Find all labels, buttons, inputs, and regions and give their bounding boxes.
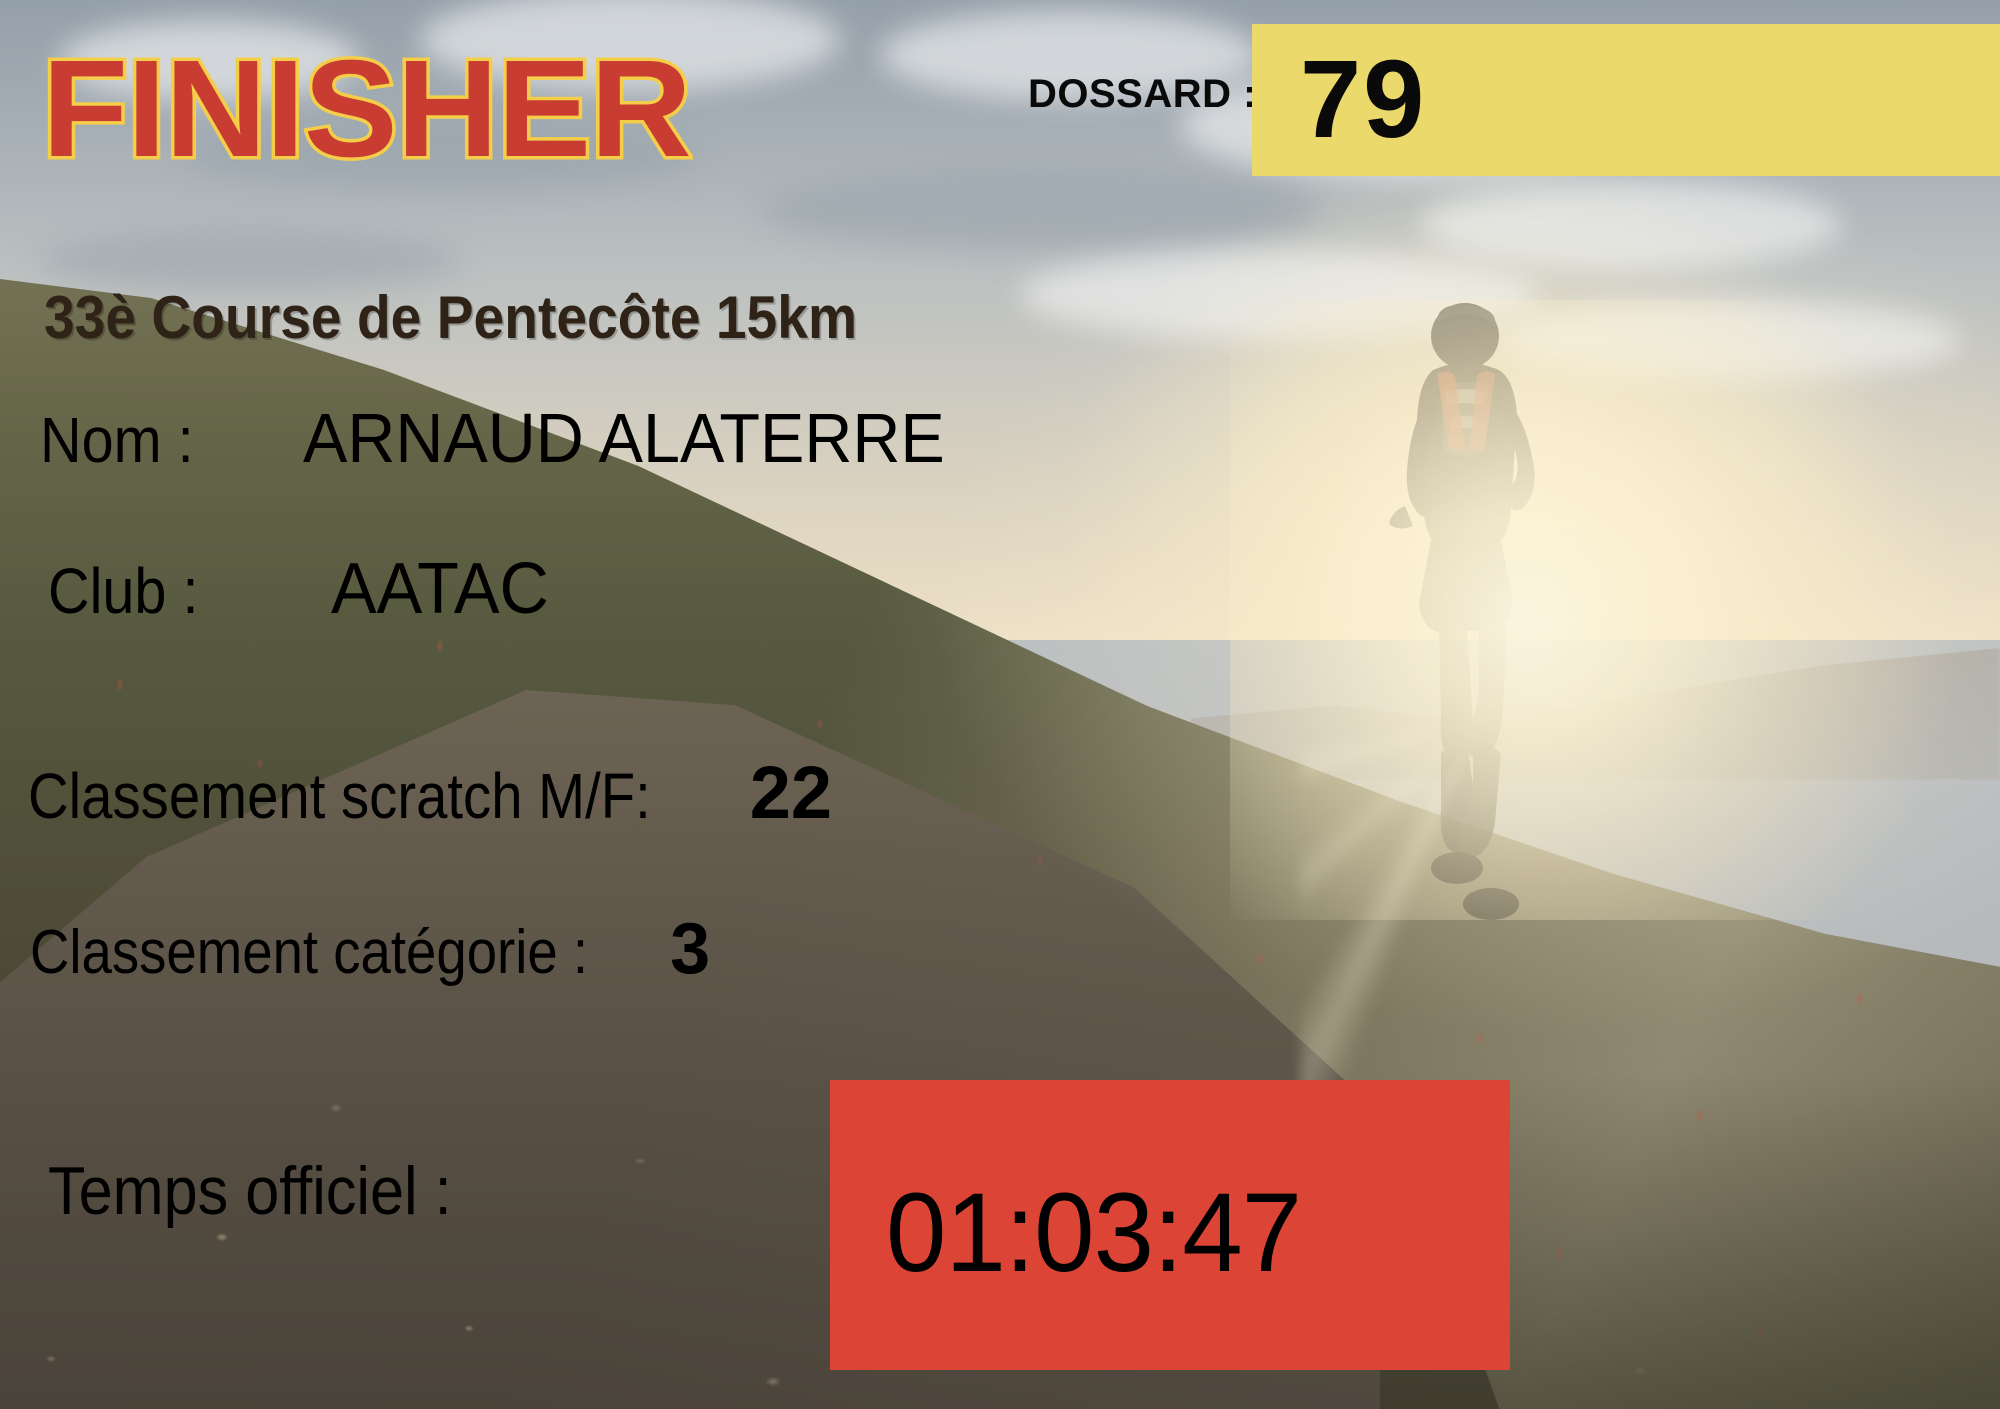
official-time-value: 01:03:47 bbox=[886, 1168, 1301, 1297]
category-rank-label: Classement catégorie : bbox=[30, 917, 588, 988]
scratch-rank-value: 22 bbox=[750, 750, 832, 835]
finisher-title: FINISHER bbox=[42, 40, 691, 178]
field-row-name: Nom : ARNAUD ALATERRE bbox=[40, 398, 978, 478]
field-row-scratch-rank: Classement scratch M/F: 22 bbox=[28, 750, 832, 835]
name-value: ARNAUD ALATERRE bbox=[303, 398, 945, 478]
field-row-official-time: Temps officiel : bbox=[48, 1152, 496, 1230]
category-rank-value: 3 bbox=[670, 908, 710, 990]
club-value: AATAC bbox=[331, 548, 549, 630]
finisher-certificate: FINISHER DOSSARD : 79 33è Course de Pent… bbox=[0, 0, 2000, 1409]
official-time-label: Temps officiel : bbox=[48, 1152, 452, 1230]
bib-label: DOSSARD : bbox=[1028, 72, 1257, 117]
name-label: Nom : bbox=[40, 403, 194, 477]
bib-number: 79 bbox=[1300, 45, 1426, 155]
club-label: Club : bbox=[48, 554, 198, 628]
bib-number-box: 79 bbox=[1252, 24, 2000, 176]
field-row-club: Club : AATAC bbox=[48, 548, 561, 630]
field-row-category-rank: Classement catégorie : 3 bbox=[30, 908, 710, 990]
race-title: 33è Course de Pentecôte 15km bbox=[44, 283, 857, 352]
certificate-overlay: FINISHER DOSSARD : 79 33è Course de Pent… bbox=[0, 0, 2000, 1409]
scratch-rank-label: Classement scratch M/F: bbox=[28, 759, 651, 833]
